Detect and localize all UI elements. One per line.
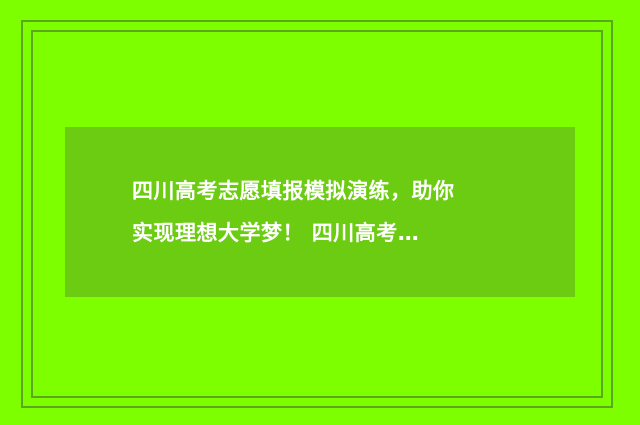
caption-line-2: 实现理想大学梦！ 四川高考… <box>132 213 575 253</box>
caption-overlay-panel: 四川高考志愿填报模拟演练，助你 实现理想大学梦！ 四川高考… <box>65 127 575 297</box>
caption-line-1: 四川高考志愿填报模拟演练，助你 <box>132 171 575 211</box>
page-canvas: 四川高考志愿填报模拟演练，助你 实现理想大学梦！ 四川高考… <box>0 0 640 425</box>
